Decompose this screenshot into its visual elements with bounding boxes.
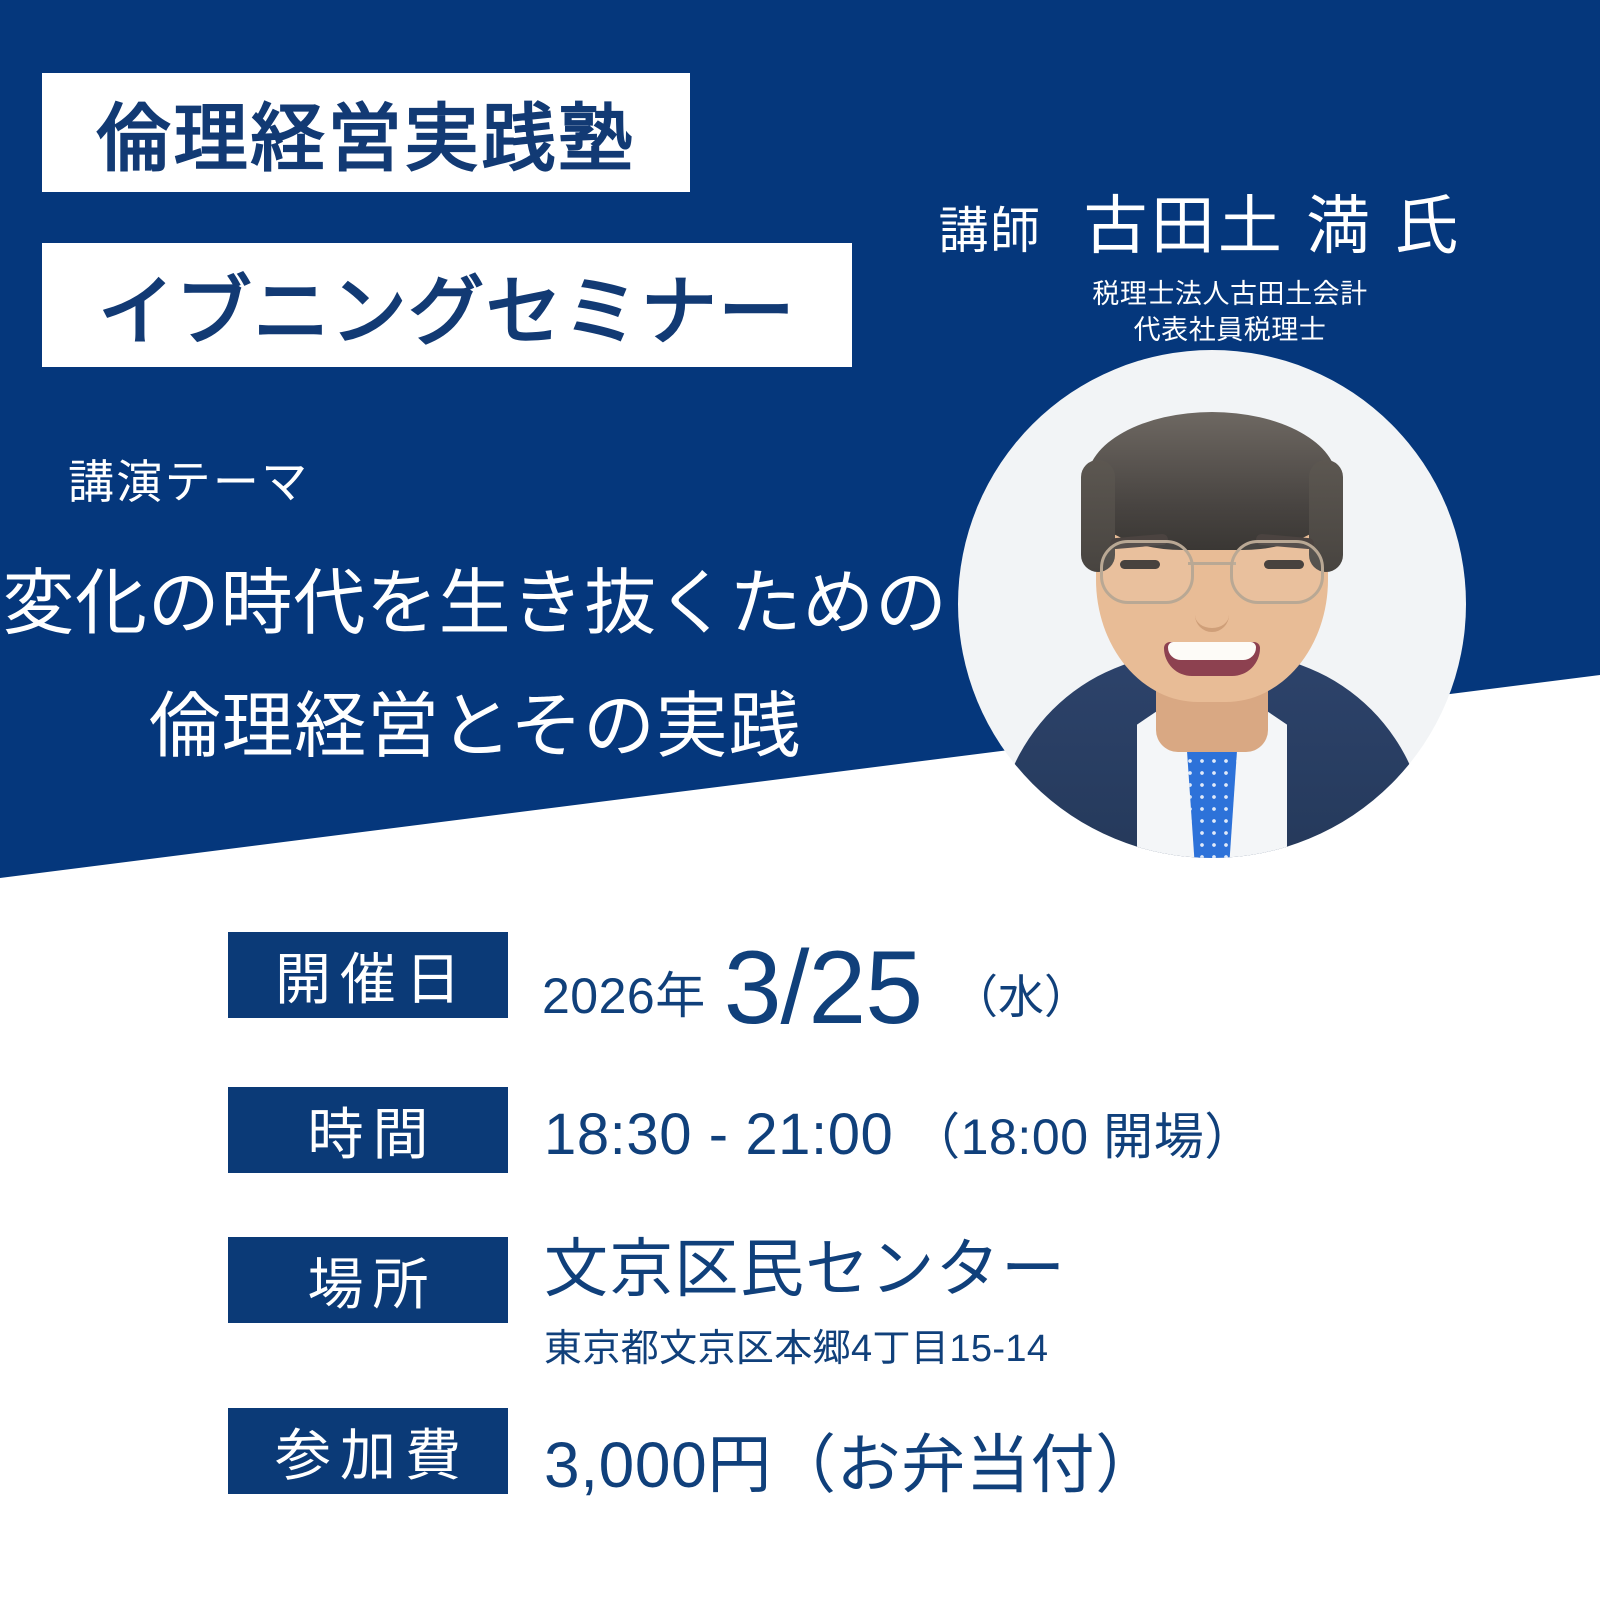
portrait-lens-right — [1230, 540, 1324, 604]
portrait-lens-left — [1100, 540, 1194, 604]
detail-row-date: 開催日 2026年 3/25 （水） — [228, 932, 1090, 1028]
portrait-teeth — [1168, 642, 1256, 660]
portrait-mouth — [1164, 642, 1260, 676]
theme-title-line-2: 倫理経営とその実践 — [0, 667, 950, 772]
theme-block: 講演テーマ 変化の時代を生き抜くための 倫理経営とその実践 — [0, 446, 950, 772]
detail-row-time: 時間 18:30 - 21:00 （18:00 開場） — [228, 1087, 1255, 1173]
seminar-title: イブニングセミナー — [98, 250, 796, 360]
detail-tag-time: 時間 — [228, 1087, 508, 1173]
theme-label: 講演テーマ — [68, 446, 950, 512]
title-box-program: 倫理経営実践塾 — [42, 73, 690, 192]
theme-title-line-1: 変化の時代を生き抜くための — [0, 544, 950, 649]
speaker-portrait-photo — [958, 350, 1466, 858]
detail-tag-date: 開催日 — [228, 932, 508, 1018]
speaker-affiliation-1: 税理士法人古田土会計 — [930, 277, 1470, 313]
speaker-label: 講師 — [939, 191, 1042, 263]
date-weekday: （水） — [952, 961, 1090, 1027]
date-year: 2026年 — [542, 956, 706, 1028]
place-address: 東京都文京区本郷4丁目15-14 — [544, 1317, 1066, 1372]
date-day: 3/25 — [724, 942, 922, 1036]
portrait-glasses — [1100, 540, 1324, 598]
detail-row-place: 場所 文京区民センター 東京都文京区本郷4丁目15-14 — [228, 1237, 1066, 1372]
speaker-name-line: 講師 古田土 満 氏 — [930, 175, 1470, 267]
portrait-glasses-bridge — [1188, 562, 1236, 565]
program-title: 倫理経営実践塾 — [97, 79, 636, 186]
time-open: （18:00 開場） — [910, 1109, 1255, 1165]
speaker-affiliation-2: 代表社員税理士 — [930, 313, 1470, 349]
detail-tag-place: 場所 — [228, 1237, 508, 1323]
detail-value-date: 2026年 3/25 （水） — [508, 932, 1090, 1028]
detail-value-place: 文京区民センター 東京都文京区本郷4丁目15-14 — [508, 1237, 1066, 1372]
detail-value-time: 18:30 - 21:00 （18:00 開場） — [508, 1087, 1255, 1169]
title-box-seminar: イブニングセミナー — [42, 243, 852, 367]
time-range: 18:30 - 21:00 — [544, 1102, 893, 1167]
portrait-hair — [1087, 412, 1337, 550]
detail-tag-fee: 参加費 — [228, 1408, 508, 1494]
speaker-block: 講師 古田土 満 氏 税理士法人古田土会計 代表社員税理士 — [930, 175, 1470, 348]
speaker-name: 古田土 満 氏 — [1084, 175, 1462, 267]
detail-value-fee: 3,000円（お弁当付） — [508, 1408, 1160, 1506]
seminar-flyer: 倫理経営実践塾 イブニングセミナー 講師 古田土 満 氏 税理士法人古田土会計 … — [0, 0, 1600, 1600]
detail-row-fee: 参加費 3,000円（お弁当付） — [228, 1408, 1160, 1506]
place-name: 文京区民センター — [544, 1237, 1066, 1301]
